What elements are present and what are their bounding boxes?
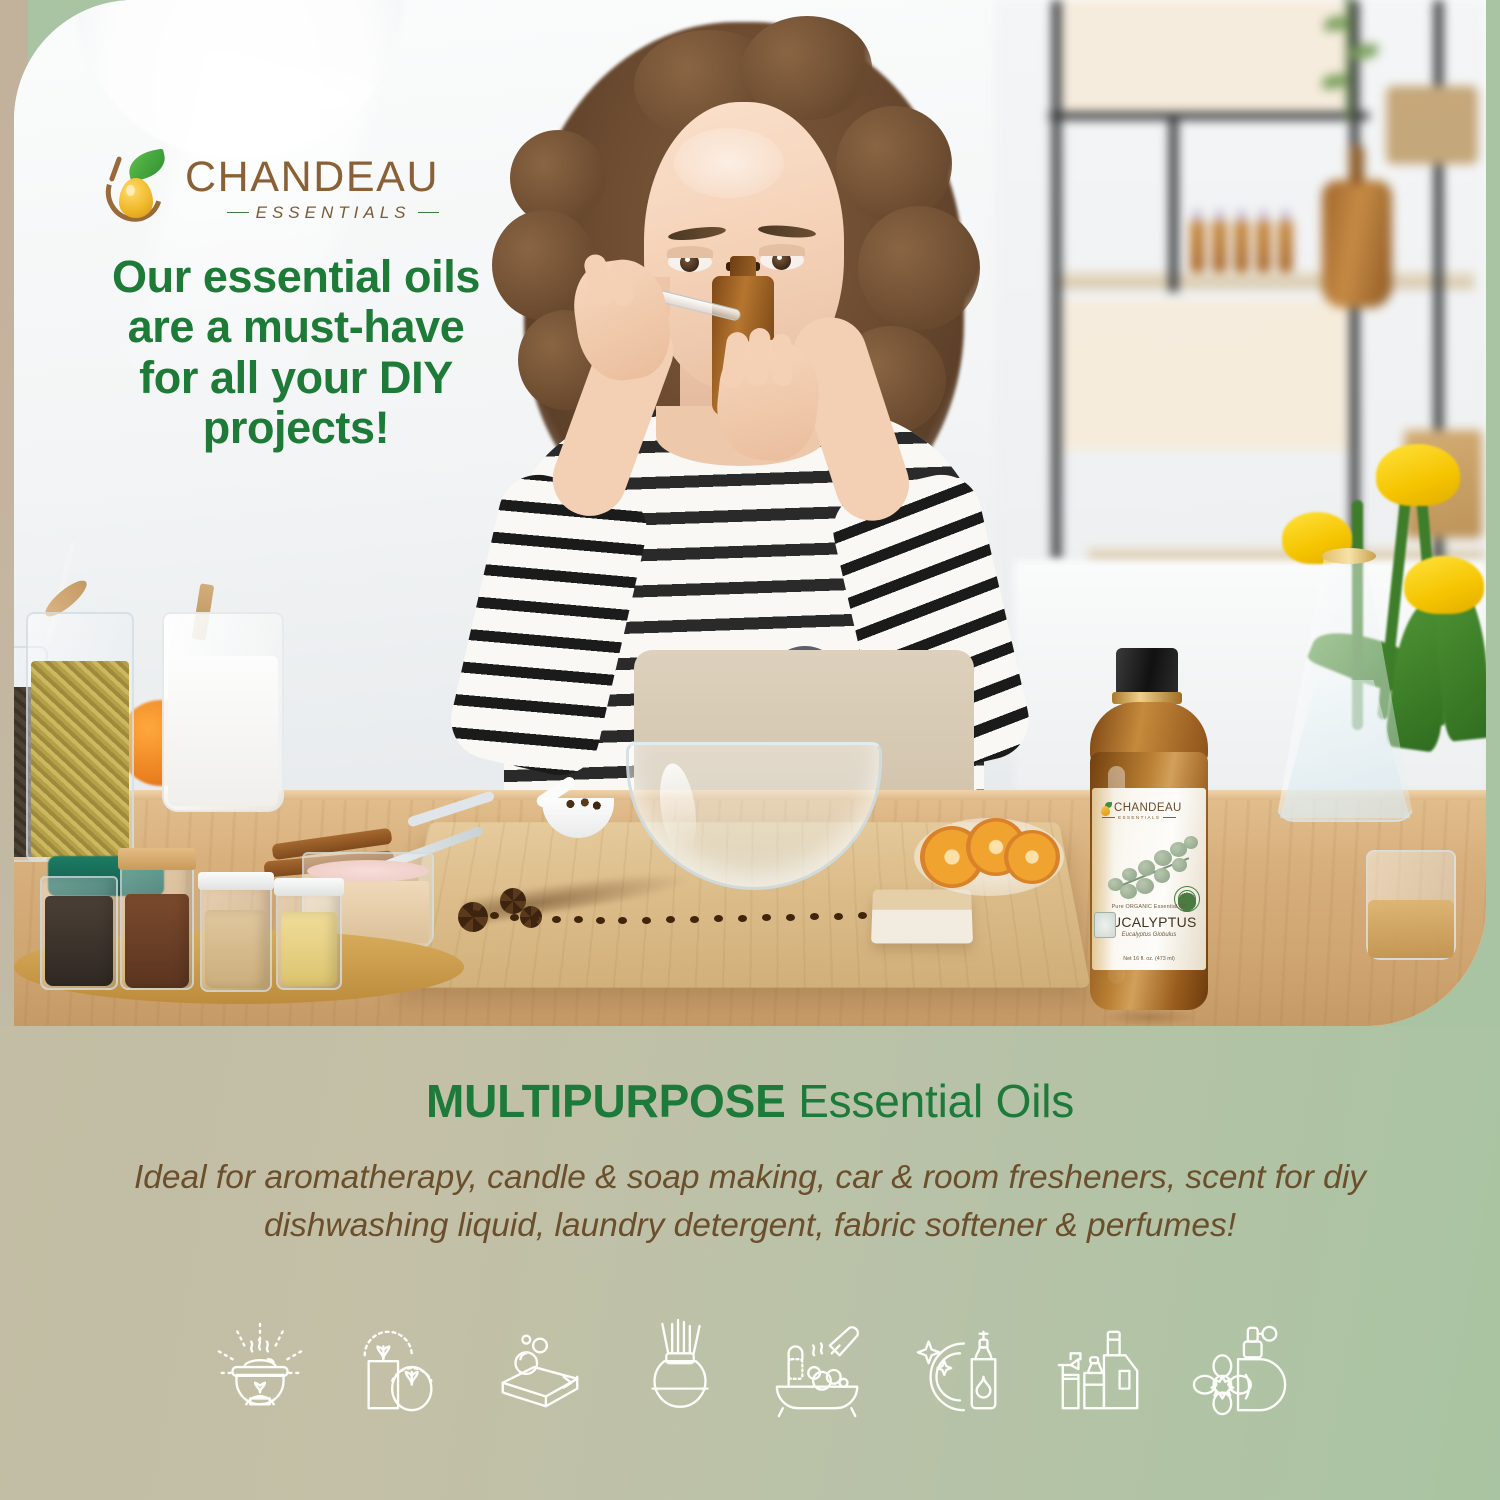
herb-tube [26, 612, 134, 862]
use-case-icon-row [0, 1316, 1500, 1424]
bottle-label: CHANDEAU ESSENTIALS Pure OR [1092, 788, 1206, 970]
label-brand: CHANDEAU [1114, 803, 1182, 815]
perfume-bottle-icon [1191, 1316, 1289, 1424]
candle-icon [351, 1316, 449, 1424]
dishwashing-liquid-icon [911, 1316, 1009, 1424]
reed-diffuser-icon [631, 1316, 729, 1424]
logo-rule-left [227, 212, 249, 214]
hero-photo: CHANDEAU ESSENTIALS Pure OR [14, 0, 1486, 1026]
tagline-light: Essential Oils [786, 1075, 1074, 1127]
bottom-band: MULTIPURPOSE Essential Oils Ideal for ar… [0, 1026, 1500, 1500]
soap-bar [871, 890, 973, 944]
tagline-bold: MULTIPURPOSE [426, 1075, 786, 1127]
logo-sub-name: ESSENTIALS [256, 203, 411, 223]
cleaning-bottles-icon [1051, 1316, 1149, 1424]
label-net-volume: Net 16 fl. oz. (473 ml) [1092, 956, 1206, 962]
non-gmo-seal [1094, 912, 1116, 938]
candle-jar [162, 612, 284, 812]
label-logo-icon [1099, 802, 1111, 817]
product-bottle: CHANDEAU ESSENTIALS Pure OR [1074, 648, 1226, 1016]
bath-dropper-icon [771, 1316, 869, 1424]
bottle-cap [1116, 648, 1178, 694]
oil-burner-icon [211, 1316, 309, 1424]
logo-rule-right [418, 212, 440, 214]
soap-bar-icon [491, 1316, 589, 1424]
brand-header: CHANDEAU ESSENTIALS Our essential oils a… [100, 152, 520, 454]
poster-frame: CHANDEAU ESSENTIALS Pure OR [0, 0, 1500, 1500]
tagline: MULTIPURPOSE Essential Oils [0, 1074, 1500, 1128]
subtitle: Ideal for aromatherapy, candle & soap ma… [52, 1154, 1448, 1249]
headline: Our essential oils are a must-have for a… [100, 252, 492, 454]
oil-drop-leaf-logo-icon [100, 152, 172, 226]
logo: CHANDEAU ESSENTIALS [100, 152, 520, 226]
logo-brand-name: CHANDEAU [185, 156, 439, 199]
label-descriptor: Pure ORGANIC Essential Oil [1092, 904, 1206, 910]
woman-with-dropper [484, 10, 1004, 790]
label-sub: ESSENTIALS [1118, 815, 1160, 820]
